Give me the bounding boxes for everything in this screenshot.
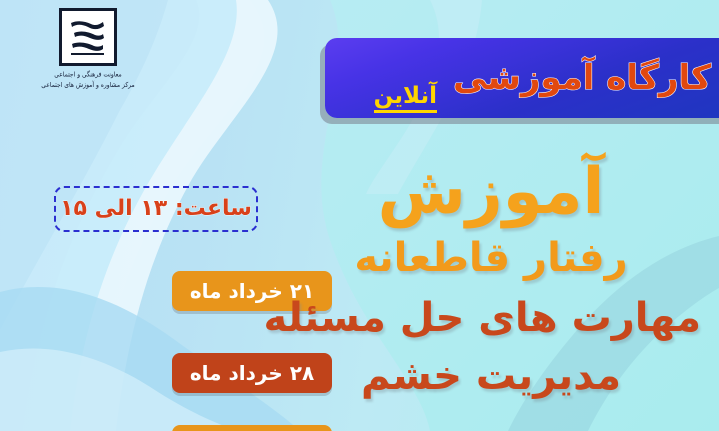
workshop-banner: کارگاه آموزشی آنلاین xyxy=(325,38,719,118)
time-badge-text: ساعت: ۱۳ الی ۱۵ xyxy=(60,198,252,220)
subtitle-line-1: رفتار قاطعانه xyxy=(281,238,701,278)
poster-root: معاونت فرهنگی و اجتماعی مرکز مشاوره و آم… xyxy=(0,0,719,431)
banner-online-label: آنلاین xyxy=(374,85,437,113)
subtitle-line-3: مدیریت خشم xyxy=(281,356,701,396)
banner-text-group: کارگاه آموزشی آنلاین xyxy=(374,61,711,99)
university-emblem-icon xyxy=(59,8,117,66)
banner-main-title: کارگاه آموزشی xyxy=(453,61,711,95)
main-title: آموزش xyxy=(281,160,701,224)
university-logo: معاونت فرهنگی و اجتماعی مرکز مشاوره و آم… xyxy=(18,8,158,89)
subtitle-line-2: مهارت های حل مسئله xyxy=(281,298,701,338)
time-badge: ساعت: ۱۳ الی ۱۵ xyxy=(54,186,258,232)
logo-caption-line-2: مرکز مشاوره و آموزش های اجتماعی xyxy=(18,81,158,91)
logo-caption: معاونت فرهنگی و اجتماعی مرکز مشاوره و آم… xyxy=(18,71,158,91)
logo-caption-line-1: معاونت فرهنگی و اجتماعی xyxy=(18,71,158,81)
title-block: آموزش رفتار قاطعانه مهارت های حل مسئله م… xyxy=(281,160,701,396)
date-pill: ۴ تیر ماه xyxy=(172,425,332,431)
